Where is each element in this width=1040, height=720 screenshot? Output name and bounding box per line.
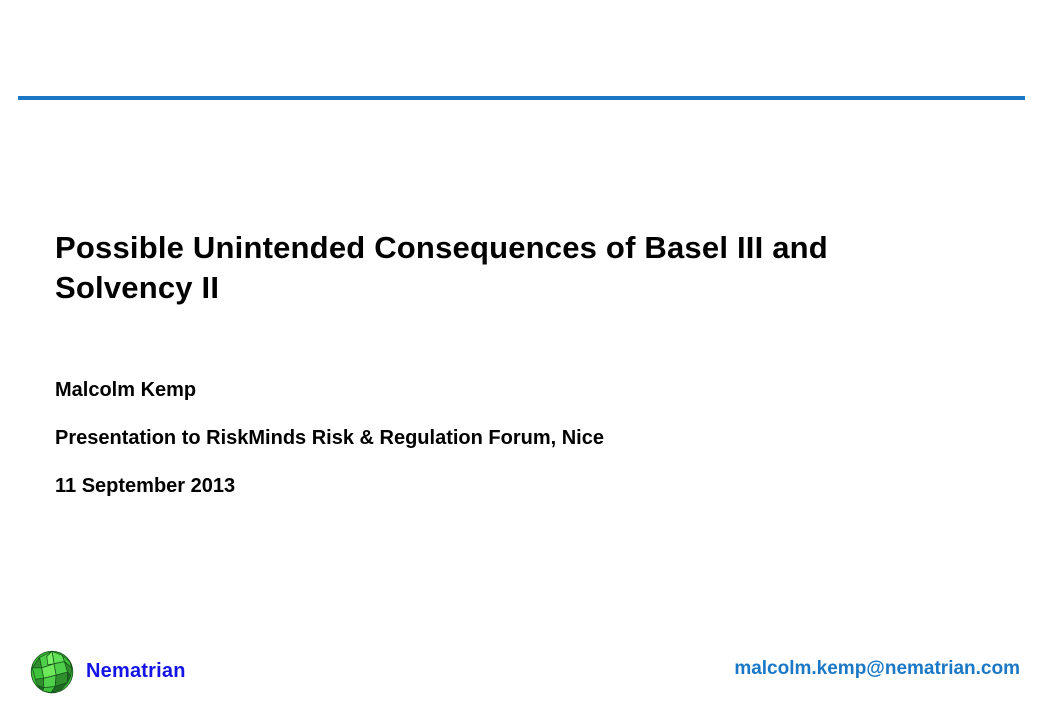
brand-name-label: Nematrian xyxy=(86,660,186,683)
slide-canvas: Possible Unintended Consequences of Base… xyxy=(0,0,1040,720)
slide-footer: Nematrian malcolm.kemp@nematrian.com xyxy=(0,640,1040,712)
page-title-line-1: Possible Unintended Consequences of Base… xyxy=(55,228,955,268)
presentation-date: 11 September 2013 xyxy=(55,462,935,510)
contact-email-label: malcolm.kemp@nematrian.com xyxy=(734,658,1020,680)
page-title: Possible Unintended Consequences of Base… xyxy=(55,228,955,308)
page-title-line-2: Solvency II xyxy=(55,268,955,308)
presenter-name: Malcolm Kemp xyxy=(55,366,935,414)
brand-logo-group: Nematrian xyxy=(26,644,186,698)
header-divider-rule xyxy=(18,96,1025,100)
presentation-meta: Malcolm Kemp Presentation to RiskMinds R… xyxy=(55,366,935,510)
event-description: Presentation to RiskMinds Risk & Regulat… xyxy=(55,414,935,462)
green-polyhedron-icon xyxy=(26,644,78,698)
